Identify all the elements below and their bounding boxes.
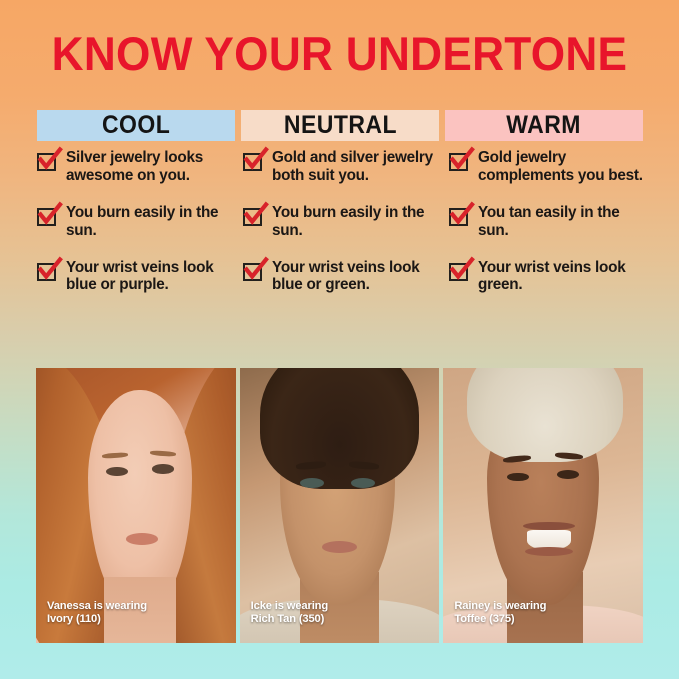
check-icon: [449, 147, 475, 173]
photo-caption-neutral: Icke is wearing Rich Tan (350): [251, 600, 328, 627]
model-photo-row: Vanessa is wearing Ivory (110) Icke is w…: [36, 368, 643, 643]
photo-caption-line2: Rich Tan (350): [251, 613, 328, 627]
checkbox-checked: [243, 206, 265, 227]
page-title-text: KNOW YOUR UNDERTONE: [20, 30, 658, 77]
page-title: KNOW YOUR UNDERTONE: [0, 30, 679, 77]
photo-caption-line1: Vanessa is wearing: [47, 600, 147, 614]
checklist-item-text: You burn easily in the sun.: [66, 203, 237, 240]
undertone-checklist-columns: Silver jewelry looks awesome on you. You…: [37, 148, 649, 294]
check-icon: [243, 257, 269, 283]
checklist-item: Gold and silver jewelry both suit you.: [243, 148, 443, 185]
check-icon: [449, 202, 475, 228]
checklist-item: Your wrist veins look blue or purple.: [37, 258, 237, 295]
column-header-neutral-label: NEUTRAL: [283, 113, 396, 138]
photo-caption-warm: Rainey is wearing Toffee (375): [454, 600, 546, 627]
checklist-item: Your wrist veins look green.: [449, 258, 649, 295]
undertone-header-row: COOL NEUTRAL WARM: [37, 110, 643, 141]
checkbox-checked: [37, 261, 59, 282]
checklist-item: Your wrist veins look blue or green.: [243, 258, 443, 295]
check-icon: [37, 202, 63, 228]
checkbox-checked: [243, 151, 265, 172]
check-icon: [449, 257, 475, 283]
photo-caption-line1: Rainey is wearing: [454, 600, 546, 614]
column-header-warm: WARM: [445, 110, 643, 141]
check-icon: [37, 257, 63, 283]
photo-caption-line1: Icke is wearing: [251, 600, 328, 614]
checklist-item-text: Gold and silver jewelry both suit you.: [272, 148, 443, 185]
checklist-item: Silver jewelry looks awesome on you.: [37, 148, 237, 185]
checklist-column-neutral: Gold and silver jewelry both suit you. Y…: [243, 148, 443, 294]
column-header-cool: COOL: [37, 110, 235, 141]
checklist-item-text: Silver jewelry looks awesome on you.: [66, 148, 237, 185]
checkbox-checked: [449, 206, 471, 227]
checkbox-checked: [37, 206, 59, 227]
checklist-item: You burn easily in the sun.: [243, 203, 443, 240]
photo-caption-line2: Ivory (110): [47, 613, 147, 627]
column-header-neutral: NEUTRAL: [241, 110, 439, 141]
checklist-column-cool: Silver jewelry looks awesome on you. You…: [37, 148, 237, 294]
checklist-column-warm: Gold jewelry complements you best. You t…: [449, 148, 649, 294]
checklist-item-text: Your wrist veins look blue or purple.: [66, 258, 237, 295]
checklist-item: You burn easily in the sun.: [37, 203, 237, 240]
photo-caption-line2: Toffee (375): [454, 613, 546, 627]
check-icon: [243, 202, 269, 228]
checkbox-checked: [243, 261, 265, 282]
checklist-item: You tan easily in the sun.: [449, 203, 649, 240]
checklist-item-text: You tan easily in the sun.: [478, 203, 649, 240]
checklist-item-text: Your wrist veins look blue or green.: [272, 258, 443, 295]
checklist-item-text: You burn easily in the sun.: [272, 203, 443, 240]
check-icon: [243, 147, 269, 173]
model-photo-neutral: Icke is wearing Rich Tan (350): [240, 368, 440, 643]
check-icon: [37, 147, 63, 173]
model-photo-warm: Rainey is wearing Toffee (375): [443, 368, 643, 643]
model-photo-cool: Vanessa is wearing Ivory (110): [36, 368, 236, 643]
checkbox-checked: [37, 151, 59, 172]
checklist-item-text: Gold jewelry complements you best.: [478, 148, 649, 185]
checkbox-checked: [449, 261, 471, 282]
column-header-cool-label: COOL: [102, 113, 170, 138]
checkbox-checked: [449, 151, 471, 172]
photo-caption-cool: Vanessa is wearing Ivory (110): [47, 600, 147, 627]
column-header-warm-label: WARM: [507, 113, 582, 138]
checklist-item-text: Your wrist veins look green.: [478, 258, 649, 295]
checklist-item: Gold jewelry complements you best.: [449, 148, 649, 185]
